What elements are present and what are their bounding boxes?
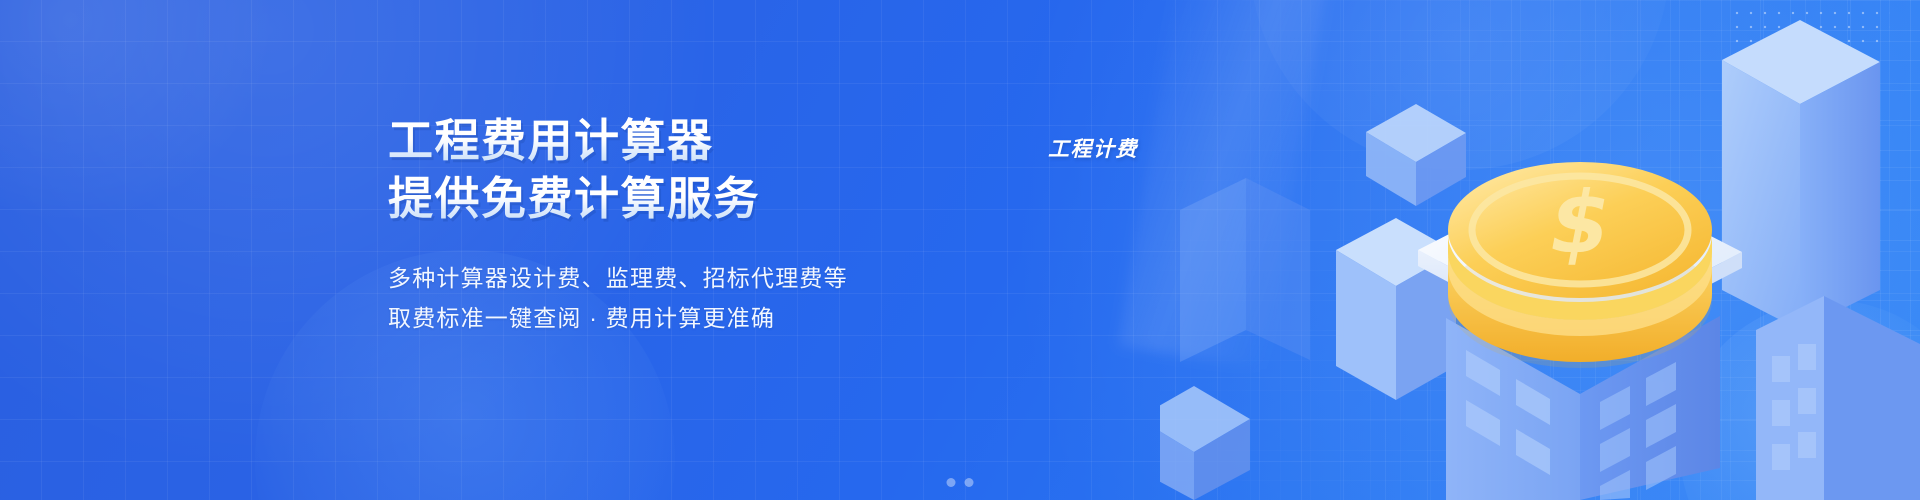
dollar-sign-icon: $ (1550, 173, 1610, 273)
carousel-indicator[interactable] (947, 478, 974, 487)
decorative-cube-top (1366, 104, 1466, 206)
banner-illustration: $ (1160, 0, 1920, 500)
banner-subtitle-line-2: 取费标准一键查阅 · 费用计算更准确 (388, 298, 1008, 338)
gold-coin-stack: $ (1448, 162, 1712, 368)
banner-headline-line-1: 工程费用计算器 (388, 112, 1008, 170)
carousel-dot-1[interactable] (947, 478, 956, 487)
tower-building-right (1722, 20, 1880, 330)
carousel-dot-2[interactable] (965, 478, 974, 487)
illustration-label: 工程计费 (1048, 133, 1138, 163)
banner-copy-block: 工程费用计算器 提供免费计算服务 多种计算器设计费、监理费、招标代理费等 取费标… (388, 112, 1008, 338)
decorative-cube-bottom (1160, 386, 1250, 500)
foreground-building-right (1756, 296, 1920, 500)
decorative-blob-top-left (0, 0, 270, 220)
hero-banner: 工程费用计算器 提供免费计算服务 多种计算器设计费、监理费、招标代理费等 取费标… (0, 0, 1920, 500)
banner-headline-line-2: 提供免费计算服务 (388, 170, 1008, 228)
banner-subtitle-line-1: 多种计算器设计费、监理费、招标代理费等 (388, 258, 1008, 298)
background-skyline-shapes (1180, 178, 1310, 362)
